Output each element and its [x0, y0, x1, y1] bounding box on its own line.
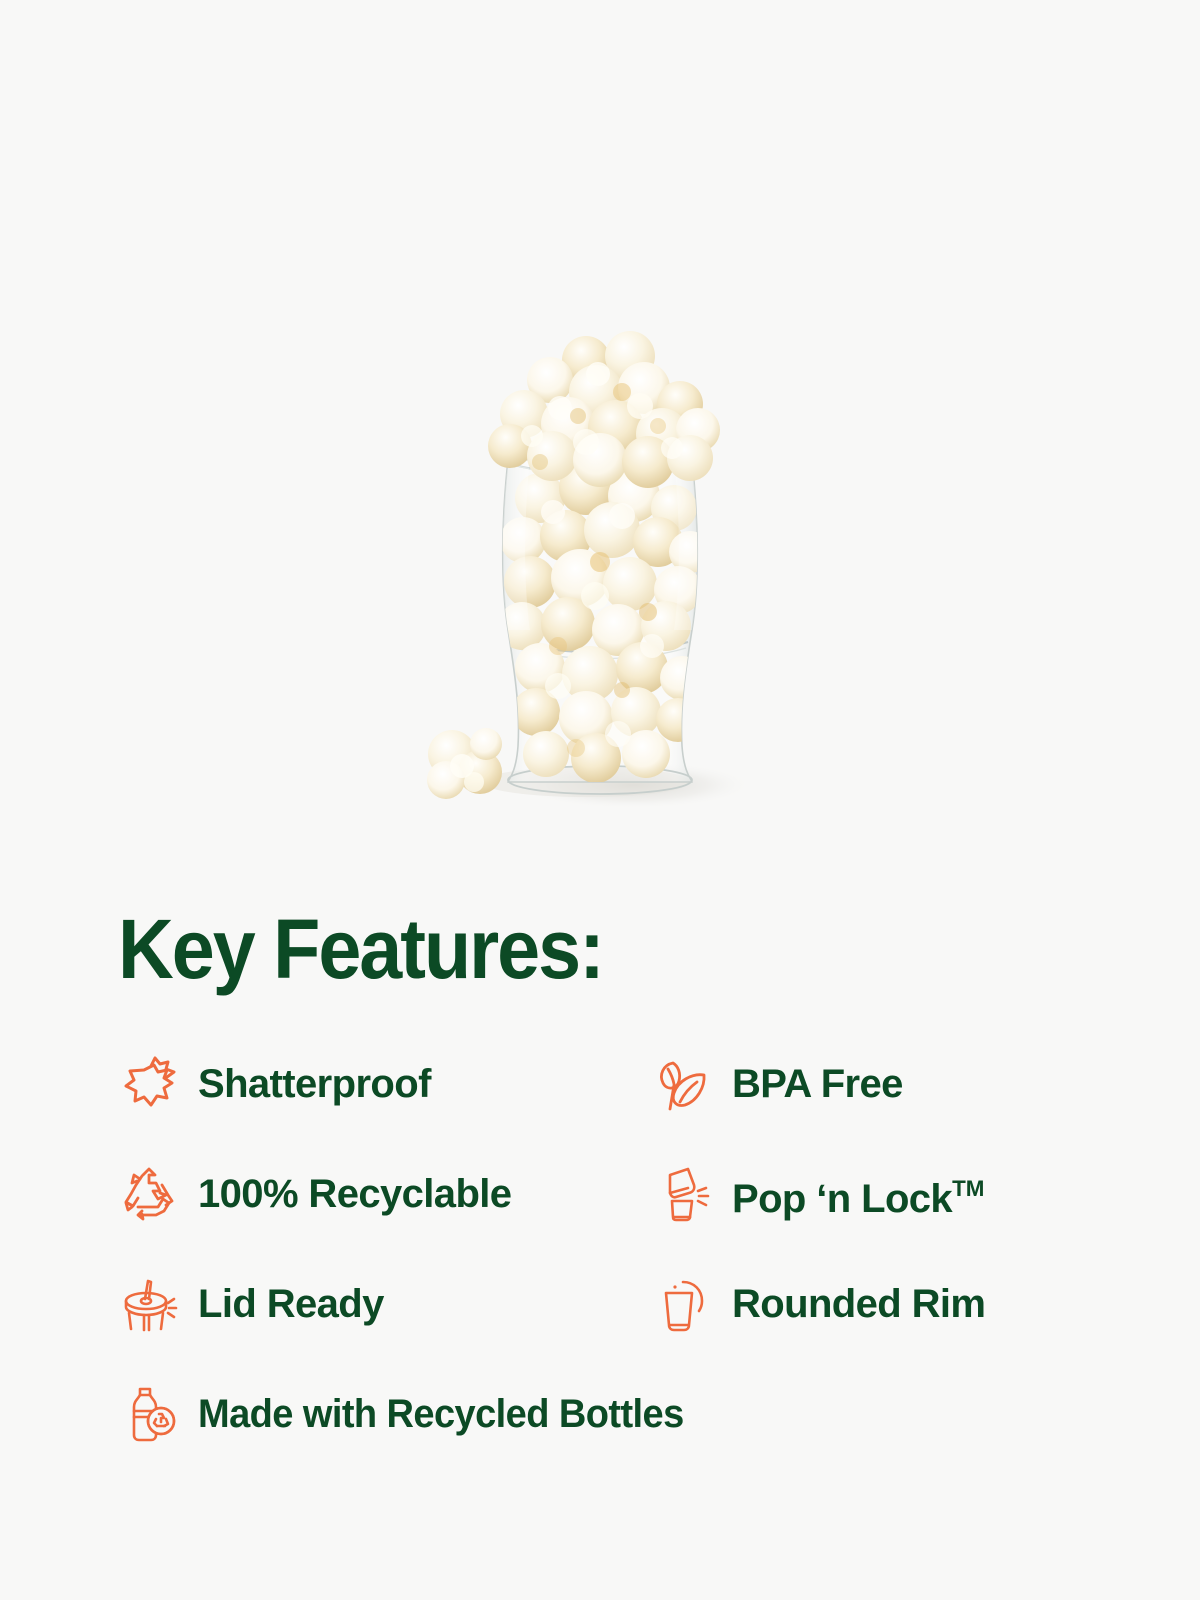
popcorn-cup-photo: [390, 330, 810, 870]
leaves-icon: [652, 1053, 714, 1115]
hero-product-image: [0, 330, 1200, 870]
feature-item-pop-n-lock: Pop ‘n LockTM: [652, 1155, 984, 1233]
cup-with-lid-and-straw-icon: [118, 1273, 180, 1335]
feature-label: Pop ‘n LockTM: [732, 1167, 984, 1221]
feature-item-shatterproof: Shatterproof: [118, 1045, 431, 1123]
feature-label: BPA Free: [732, 1062, 903, 1106]
feature-item-recyclable: 100% Recyclable: [118, 1155, 511, 1233]
popcorn-inside: [498, 460, 711, 783]
rounded-rim-cup-icon: [652, 1273, 714, 1335]
trademark-superscript: TM: [952, 1176, 984, 1201]
page-title: Key Features:: [118, 905, 603, 993]
feature-label: Rounded Rim: [732, 1282, 985, 1326]
feature-item-recycled-bottles: Made with Recycled Bottles: [118, 1375, 709, 1453]
stacked-cups-popping-icon: [652, 1163, 714, 1225]
recycle-arrows-icon: [118, 1163, 180, 1225]
feature-label: Lid Ready: [198, 1282, 384, 1326]
product-feature-page: Key Features: Shatterproof: [0, 0, 1200, 1600]
recycled-bottle-icon: [118, 1383, 180, 1445]
feature-label: 100% Recyclable: [198, 1172, 511, 1216]
shatter-burst-icon: [118, 1053, 180, 1115]
feature-label: Shatterproof: [198, 1062, 431, 1106]
feature-item-rounded-rim: Rounded Rim: [652, 1265, 985, 1343]
loose-popcorn-kernels: [427, 728, 502, 799]
feature-item-lid-ready: Lid Ready: [118, 1265, 384, 1343]
feature-label: Made with Recycled Bottles: [198, 1392, 684, 1436]
feature-item-bpa-free: BPA Free: [652, 1045, 903, 1123]
